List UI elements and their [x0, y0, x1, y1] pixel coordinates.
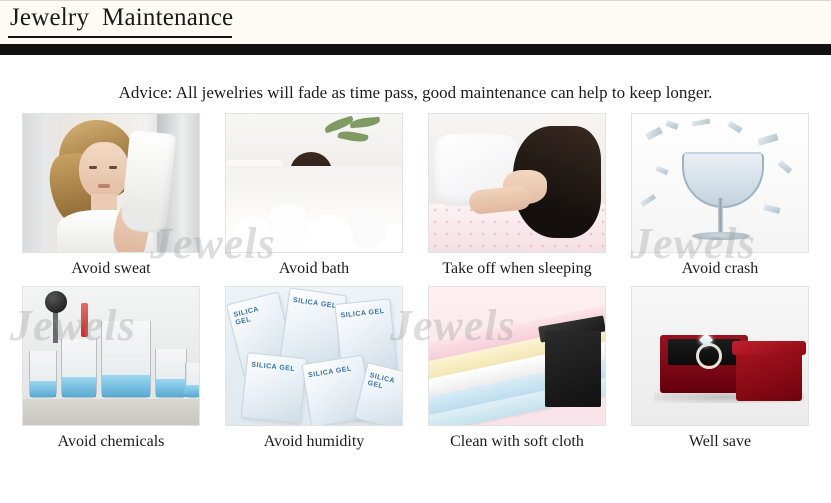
clean-with-soft-cloth-image [428, 286, 606, 426]
care-item-avoid-crash: Avoid crash [627, 113, 813, 278]
silica-gel-label: SILICA GEL [251, 362, 302, 375]
advice-text: Advice: All jewelries will fade as time … [0, 55, 831, 113]
care-grid: Avoid sweat [0, 113, 831, 451]
jewelry-maintenance-page: Jewelry Maintenance Advice: All jewelrie… [0, 0, 831, 503]
care-item-caption: Avoid bath [279, 260, 349, 278]
title-underline [8, 36, 232, 38]
well-save-image [631, 286, 809, 426]
care-item-avoid-humidity: SILICA GEL SILICA GEL SILICA GEL SILICA … [221, 286, 407, 451]
care-item-caption: Avoid humidity [264, 433, 365, 451]
care-item-avoid-sweat: Avoid sweat [18, 113, 204, 278]
silica-gel-label: SILICA GEL [367, 372, 403, 397]
care-item-well-save: Well save [627, 286, 813, 451]
avoid-crash-image [631, 113, 809, 253]
avoid-humidity-image: SILICA GEL SILICA GEL SILICA GEL SILICA … [225, 286, 403, 426]
care-item-caption: Well save [689, 433, 751, 451]
silica-gel-label: SILICA GEL [292, 297, 341, 312]
content-area: Advice: All jewelries will fade as time … [0, 55, 831, 451]
care-item-avoid-chemicals: Avoid chemicals [18, 286, 204, 451]
care-item-caption: Clean with soft cloth [450, 433, 584, 451]
care-row: Avoid sweat [18, 113, 813, 278]
avoid-sweat-image [22, 113, 200, 253]
care-item-caption: Avoid sweat [71, 260, 150, 278]
care-item-caption: Take off when sleeping [442, 260, 591, 278]
care-row: Avoid chemicals SILICA GEL SILICA GEL SI… [18, 286, 813, 451]
silica-gel-label: SILICA GEL [340, 308, 387, 321]
page-title: Jewelry Maintenance [10, 4, 233, 32]
care-item-take-off-when-sleeping: Take off when sleeping [424, 113, 610, 278]
avoid-bath-image [225, 113, 403, 253]
avoid-chemicals-image [22, 286, 200, 426]
header-black-bar [0, 44, 831, 55]
care-item-caption: Avoid crash [682, 260, 759, 278]
care-item-caption: Avoid chemicals [58, 433, 165, 451]
take-off-when-sleeping-image [428, 113, 606, 253]
silica-gel-label: SILICA GEL [233, 302, 280, 328]
silica-gel-label: SILICA GEL [308, 364, 361, 380]
care-item-clean-with-soft-cloth: Clean with soft cloth [424, 286, 610, 451]
page-header: Jewelry Maintenance [0, 0, 831, 44]
care-item-avoid-bath: Avoid bath [221, 113, 407, 278]
